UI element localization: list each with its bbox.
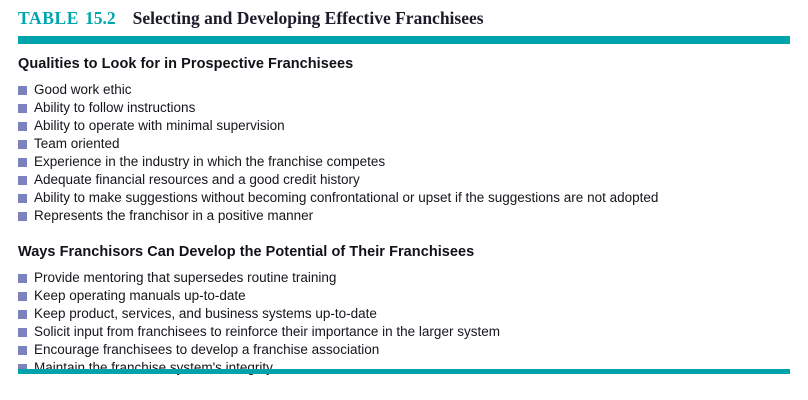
list-item-label: Keep product, services, and business sys… [34, 306, 794, 322]
list-item-label: Adequate financial resources and a good … [34, 172, 794, 188]
square-bullet-icon [18, 212, 27, 221]
square-bullet-icon [18, 158, 27, 167]
list-item-label: Good work ethic [34, 82, 794, 98]
table-number: 15.2 [85, 8, 116, 29]
list-item-label: Ability to follow instructions [34, 100, 794, 116]
table-label: TABLE [18, 8, 79, 29]
table-caption: TABLE 15.2 Selecting and Developing Effe… [18, 8, 484, 29]
bottom-rule-divider [18, 369, 790, 374]
list-item: Represents the franchisor in a positive … [18, 208, 794, 224]
list-item-label: Keep operating manuals up-to-date [34, 288, 794, 304]
square-bullet-icon [18, 176, 27, 185]
list-item-label: Experience in the industry in which the … [34, 154, 794, 170]
section-ways-to-develop: Ways Franchisors Can Develop the Potenti… [18, 244, 794, 376]
list-item-label: Solicit input from franchisees to reinfo… [34, 324, 794, 340]
list-item: Keep operating manuals up-to-date [18, 288, 794, 304]
list-item: Keep product, services, and business sys… [18, 306, 794, 322]
list-item: Ability to follow instructions [18, 100, 794, 116]
section-heading: Ways Franchisors Can Develop the Potenti… [18, 244, 794, 260]
table-figure: TABLE 15.2 Selecting and Developing Effe… [0, 0, 808, 400]
top-rule-divider [18, 36, 790, 44]
square-bullet-icon [18, 194, 27, 203]
list-item-label: Team oriented [34, 136, 794, 152]
square-bullet-icon [18, 104, 27, 113]
list-item: Adequate financial resources and a good … [18, 172, 794, 188]
list-item-label: Represents the franchisor in a positive … [34, 208, 794, 224]
table-body: Qualities to Look for in Prospective Fra… [18, 56, 794, 378]
list-item: Team oriented [18, 136, 794, 152]
list-item-label: Provide mentoring that supersedes routin… [34, 270, 794, 286]
list-item-label: Encourage franchisees to develop a franc… [34, 342, 794, 358]
list-item: Solicit input from franchisees to reinfo… [18, 324, 794, 340]
section-heading: Qualities to Look for in Prospective Fra… [18, 56, 794, 72]
list-item: Ability to make suggestions without beco… [18, 190, 794, 206]
list-item: Ability to operate with minimal supervis… [18, 118, 794, 134]
list-item-label: Ability to operate with minimal supervis… [34, 118, 794, 134]
list-item: Provide mentoring that supersedes routin… [18, 270, 794, 286]
square-bullet-icon [18, 346, 27, 355]
section-qualities: Qualities to Look for in Prospective Fra… [18, 56, 794, 224]
list-item: Encourage franchisees to develop a franc… [18, 342, 794, 358]
list-item: Good work ethic [18, 82, 794, 98]
square-bullet-icon [18, 328, 27, 337]
list-item: Experience in the industry in which the … [18, 154, 794, 170]
square-bullet-icon [18, 140, 27, 149]
square-bullet-icon [18, 292, 27, 301]
square-bullet-icon [18, 274, 27, 283]
square-bullet-icon [18, 310, 27, 319]
list-item-label: Ability to make suggestions without beco… [34, 190, 794, 206]
table-title: Selecting and Developing Effective Franc… [133, 8, 484, 29]
qualities-list: Good work ethic Ability to follow instru… [18, 82, 794, 224]
development-list: Provide mentoring that supersedes routin… [18, 270, 794, 376]
square-bullet-icon [18, 86, 27, 95]
square-bullet-icon [18, 122, 27, 131]
